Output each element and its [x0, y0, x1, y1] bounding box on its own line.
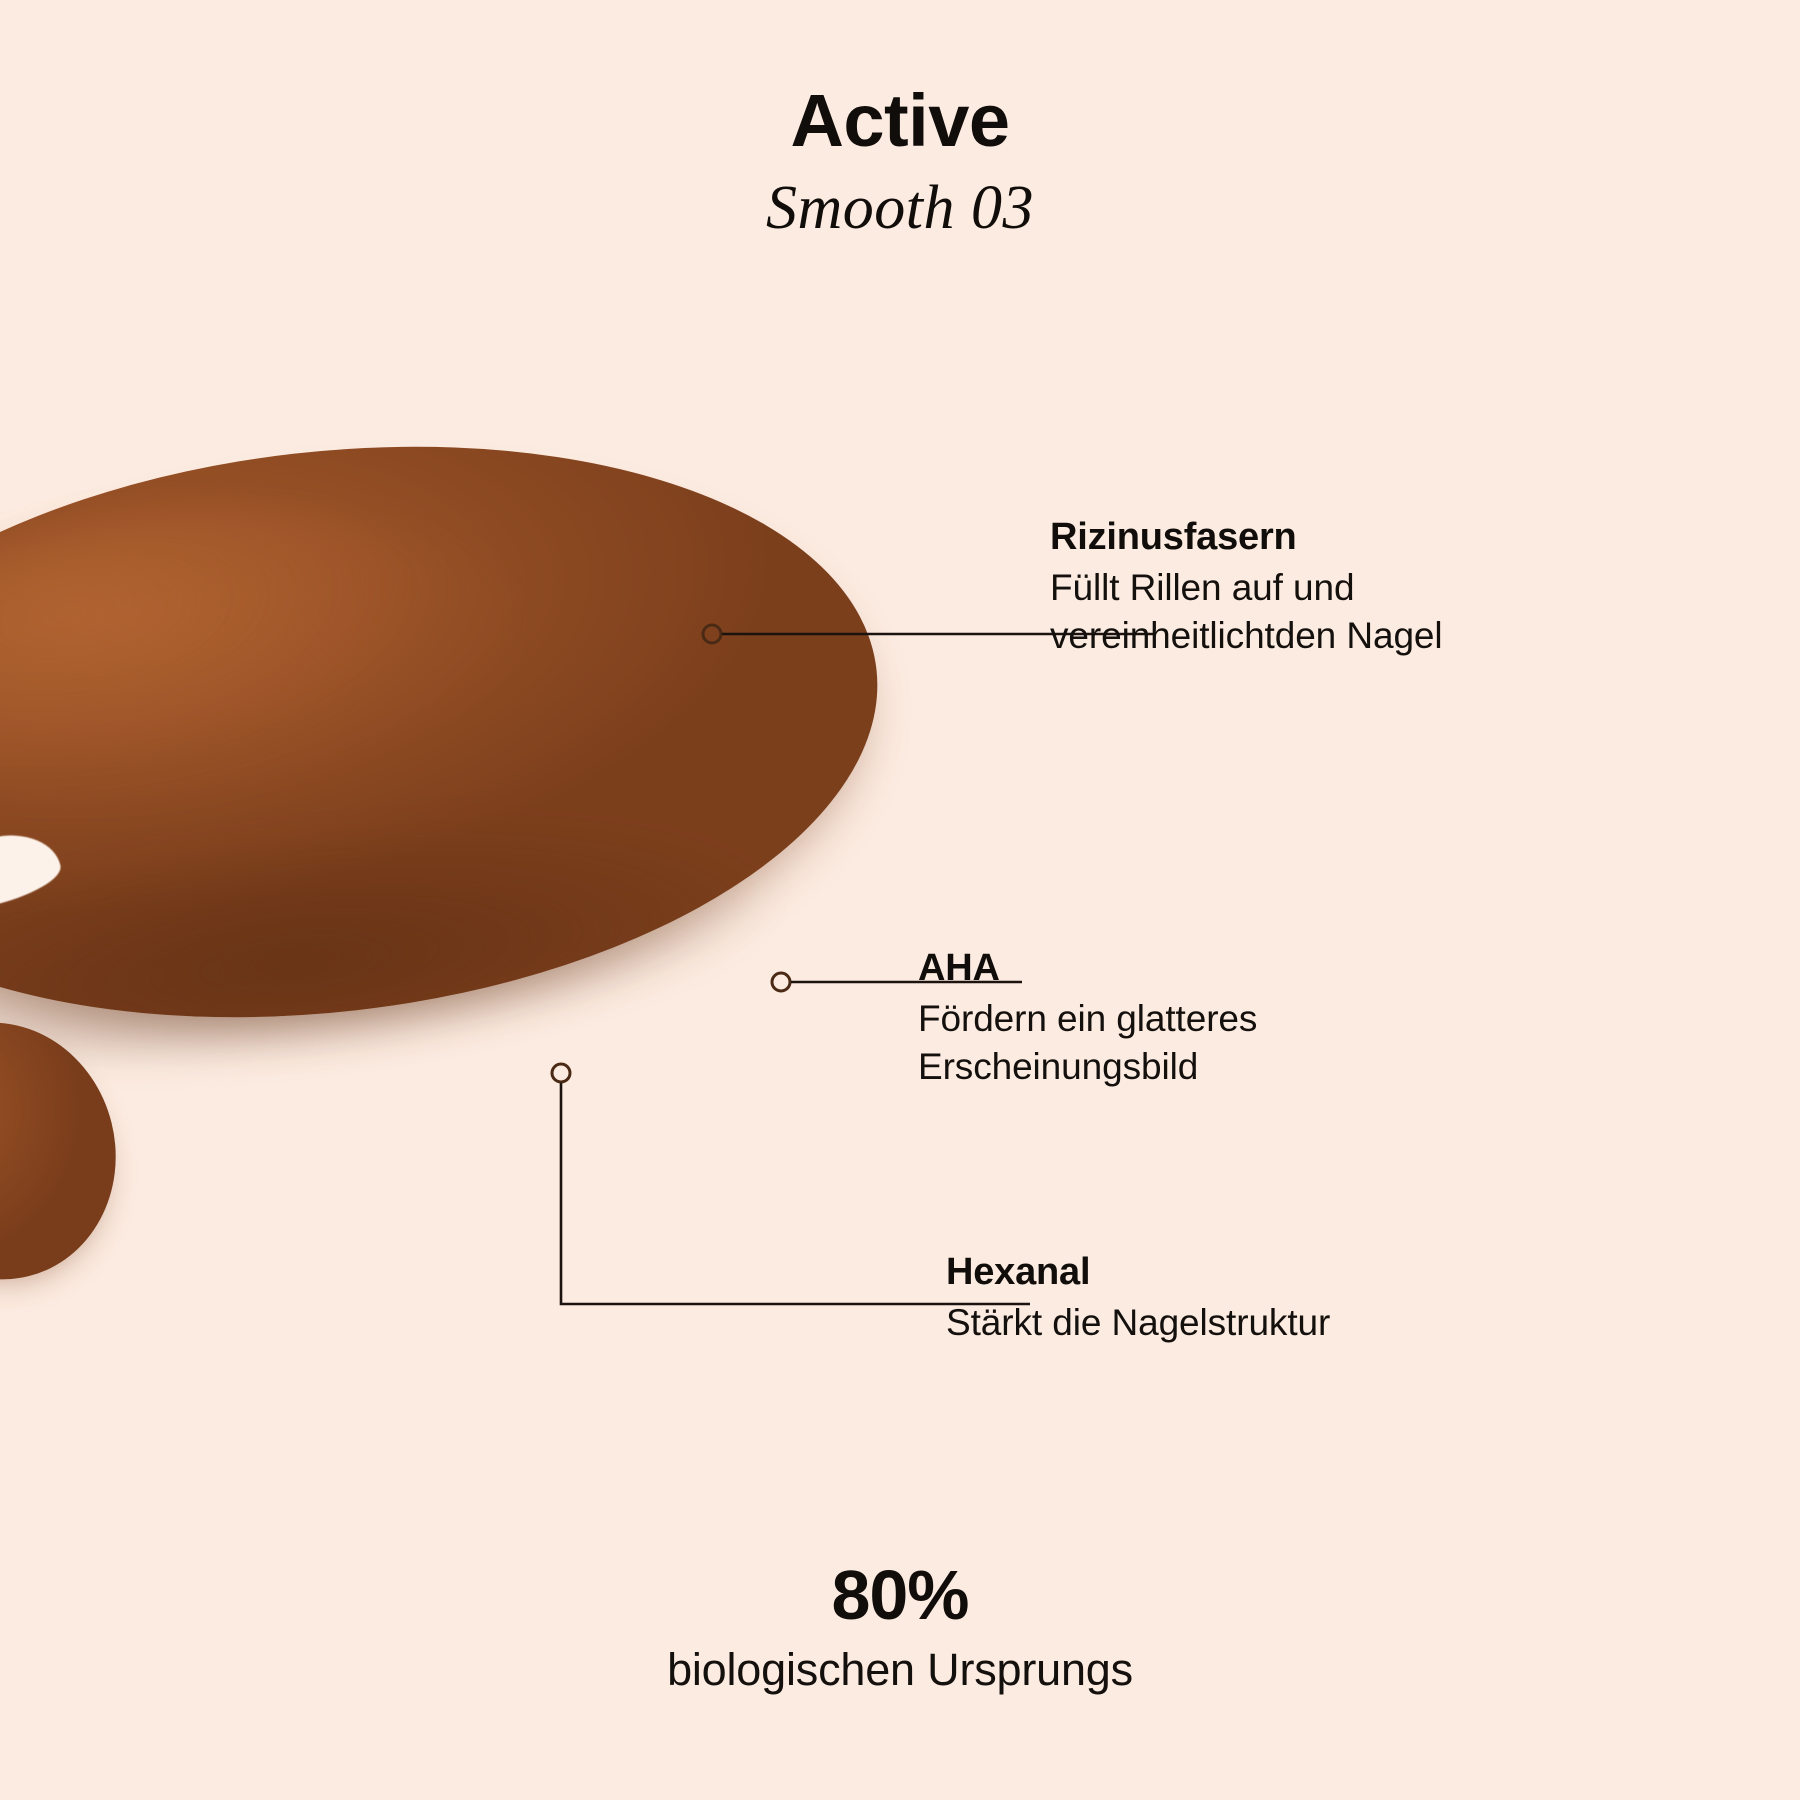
callout-description-line: Fördern ein glatteres	[918, 995, 1257, 1043]
organic-percentage-value: 80%	[0, 1560, 1800, 1630]
callout-description-rizinusfasern: Füllt Rillen auf und vereinheitlichtden …	[1050, 564, 1443, 660]
callout-description-line: Erscheinungsbild	[918, 1043, 1257, 1091]
leader-dot-hexanal	[552, 1064, 570, 1082]
callout-title-rizinusfasern: Rizinusfasern	[1050, 515, 1443, 560]
leader-dot-rizinusfasern	[703, 625, 721, 643]
callout-title-aha: AHA	[918, 946, 1257, 991]
callout-description-line: Füllt Rillen auf und	[1050, 564, 1443, 612]
callout-rizinusfasern: Rizinusfasern Füllt Rillen auf und verei…	[1050, 515, 1443, 660]
callout-aha: AHA Fördern ein glatteres Erscheinungsbi…	[918, 946, 1257, 1091]
callout-description-aha: Fördern ein glatteres Erscheinungsbild	[918, 995, 1257, 1091]
callout-hexanal: Hexanal Stärkt die Nagelstruktur	[946, 1250, 1330, 1347]
organic-percentage-label: biologischen Ursprungs	[0, 1642, 1800, 1698]
callout-description-hexanal: Stärkt die Nagelstruktur	[946, 1299, 1330, 1347]
infographic-canvas: Active Smooth 03 Rizinusfasern Füllt Ril…	[0, 0, 1800, 1800]
leader-lines	[0, 0, 1800, 1800]
callout-description-line: vereinheitlichtden Nagel	[1050, 612, 1443, 660]
callout-description-line: Stärkt die Nagelstruktur	[946, 1299, 1330, 1347]
footer-claim: 80% biologischen Ursprungs	[0, 1560, 1800, 1698]
leader-dot-aha	[772, 973, 790, 991]
callout-title-hexanal: Hexanal	[946, 1250, 1330, 1295]
